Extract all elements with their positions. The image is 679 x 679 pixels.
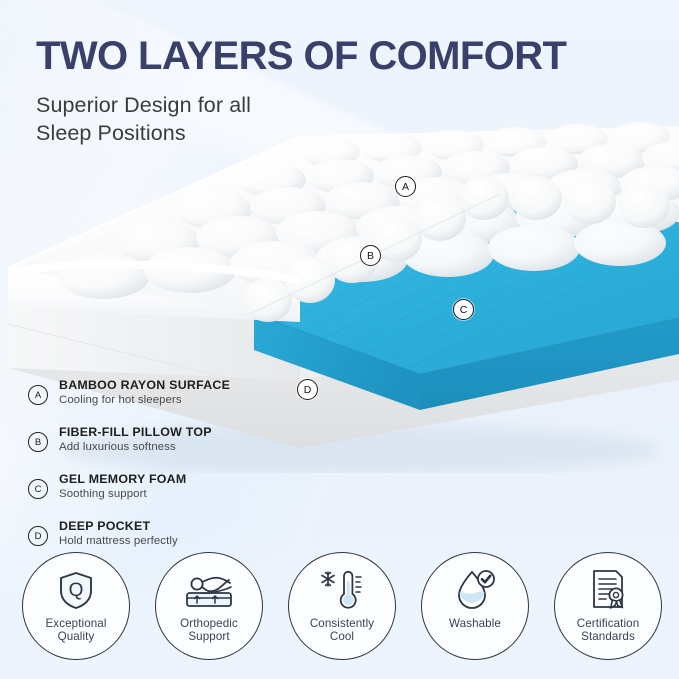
legend-marker-c: C	[28, 479, 48, 499]
legend-item-gel-memory-foam[interactable]: C GEL MEMORY FOAM Soothing support	[28, 472, 328, 506]
legend-subtitle: Soothing support	[59, 488, 186, 501]
subtitle-line-1: Superior Design for all	[36, 93, 251, 117]
legend-title: DEEP POCKET	[59, 519, 178, 533]
legend-item-fiber-fill-pillow-top[interactable]: B FIBER-FILL PILLOW TOP Add luxurious so…	[28, 425, 328, 459]
badge-label: Certification Standards	[572, 617, 645, 643]
legend-title: GEL MEMORY FOAM	[59, 472, 186, 486]
badge-label: Consistently Cool	[305, 617, 379, 643]
badge-consistently-cool[interactable]: Consistently Cool	[288, 552, 396, 660]
legend-subtitle: Add luxurious softness	[59, 441, 212, 454]
legend-marker-a: A	[28, 385, 48, 405]
thermometer-snowflake-icon	[317, 566, 367, 613]
callout-marker-b[interactable]: B	[360, 245, 381, 266]
legend-subtitle: Hold mattress perfectly	[59, 535, 178, 548]
orthopedic-support-icon	[183, 566, 235, 613]
callout-marker-c[interactable]: C	[453, 299, 474, 320]
legend-title: BAMBOO RAYON SURFACE	[59, 378, 230, 392]
legend-subtitle: Cooling for hot sleepers	[59, 394, 230, 407]
badge-label: Washable	[444, 617, 506, 630]
legend-marker-d: D	[28, 526, 48, 546]
badge-washable[interactable]: Washable	[421, 552, 529, 660]
infographic-canvas: TWO LAYERS OF COMFORT Superior Design fo…	[0, 0, 679, 679]
badge-orthopedic-support[interactable]: Orthopedic Support	[155, 552, 263, 660]
legend-title: FIBER-FILL PILLOW TOP	[59, 425, 212, 439]
legend-item-bamboo-rayon-surface[interactable]: A BAMBOO RAYON SURFACE Cooling for hot s…	[28, 378, 328, 412]
legend-item-deep-pocket[interactable]: D DEEP POCKET Hold mattress perfectly	[28, 519, 328, 553]
certificate-seal-icon	[585, 566, 631, 613]
callout-marker-a[interactable]: A	[395, 176, 416, 197]
badge-label: Exceptional Quality	[40, 617, 111, 643]
badge-label: Orthopedic Support	[175, 617, 243, 643]
badge-certification-standards[interactable]: Certification Standards	[554, 552, 662, 660]
badge-exceptional-quality[interactable]: Q Exceptional Quality	[22, 552, 130, 660]
svg-text:Q: Q	[69, 580, 84, 601]
legend-marker-b: B	[28, 432, 48, 452]
page-title: TWO LAYERS OF COMFORT	[36, 36, 656, 76]
shield-quality-icon: Q	[53, 566, 99, 613]
legend-list: A BAMBOO RAYON SURFACE Cooling for hot s…	[28, 378, 328, 566]
feature-badges: Q Exceptional Quality	[22, 552, 662, 664]
water-drop-check-icon	[451, 566, 499, 613]
